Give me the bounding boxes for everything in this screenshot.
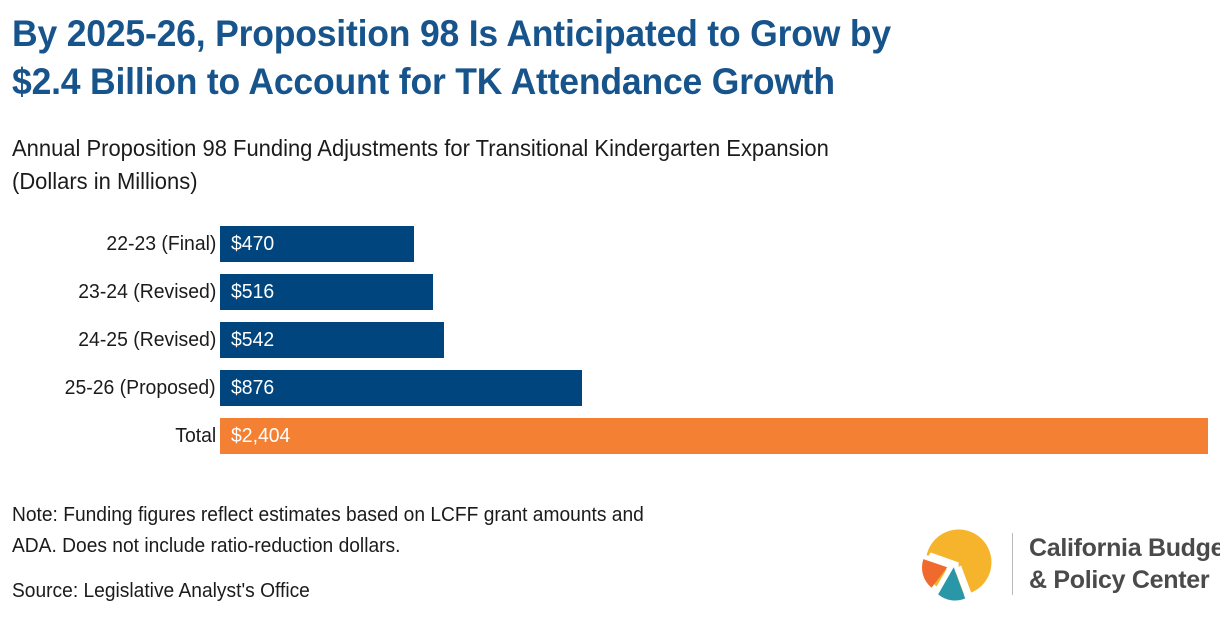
note-line-1: Note: Funding figures reflect estimates …	[12, 500, 838, 531]
bar-segment: $470	[220, 226, 414, 262]
bar-segment: $542	[220, 322, 444, 358]
bar-category-label: Total	[175, 418, 216, 454]
page-title-line-1: By 2025-26, Proposition 98 Is Anticipate…	[12, 10, 1154, 58]
cbpc-pie-arrow-logo-icon	[916, 523, 998, 605]
bar-row: 22-23 (Final) $470	[0, 226, 1220, 262]
bar-value-label: $542	[231, 322, 274, 358]
page-subtitle-line-2: (Dollars in Millions)	[12, 165, 1120, 198]
page-subtitle: Annual Proposition 98 Funding Adjustment…	[12, 132, 1120, 198]
logo-wordmark-line-1: California Budget	[1029, 532, 1220, 564]
logo-divider	[1012, 533, 1013, 595]
page-subtitle-line-1: Annual Proposition 98 Funding Adjustment…	[12, 132, 1120, 165]
bar-row: 24-25 (Revised) $542	[0, 322, 1220, 358]
bar-segment: $516	[220, 274, 433, 310]
bar-category-label: 23-24 (Revised)	[78, 274, 216, 310]
note-line-2: ADA. Does not include ratio-reduction do…	[12, 531, 838, 562]
bar-value-label: $2,404	[231, 418, 290, 454]
page-title: By 2025-26, Proposition 98 Is Anticipate…	[12, 10, 1154, 106]
organization-logo: California Budget & Policy Center	[916, 518, 1206, 610]
footnotes: Note: Funding figures reflect estimates …	[12, 500, 872, 607]
chart-canvas: By 2025-26, Proposition 98 Is Anticipate…	[0, 0, 1220, 620]
logo-wordmark: California Budget & Policy Center	[1029, 532, 1220, 596]
bar-value-label: $876	[231, 370, 274, 406]
bar-category-label: 22-23 (Final)	[106, 226, 216, 262]
page-title-line-2: $2.4 Billion to Account for TK Attendanc…	[12, 58, 1154, 106]
logo-wordmark-line-2: & Policy Center	[1029, 564, 1220, 596]
source-line: Source: Legislative Analyst's Office	[12, 576, 838, 607]
bar-value-label: $470	[231, 226, 274, 262]
bar-category-label: 24-25 (Revised)	[78, 322, 216, 358]
bar-row-total: Total $2,404	[0, 418, 1220, 454]
bar-row: 25-26 (Proposed) $876	[0, 370, 1220, 406]
bar-segment: $876	[220, 370, 582, 406]
bar-category-label: 25-26 (Proposed)	[65, 370, 216, 406]
bar-chart: 22-23 (Final) $470 23-24 (Revised) $516 …	[0, 208, 1220, 470]
bar-value-label: $516	[231, 274, 274, 310]
bar-segment-total: $2,404	[220, 418, 1208, 454]
bar-row: 23-24 (Revised) $516	[0, 274, 1220, 310]
